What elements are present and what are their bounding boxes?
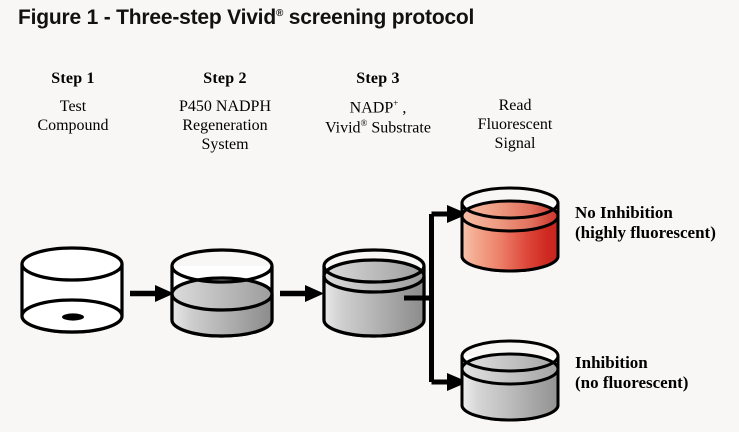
inhibition-label-line-2: (no fluorescent) — [575, 373, 688, 393]
figure-canvas: Figure 1 - Three-step Vivid® screening p… — [0, 0, 739, 432]
figure-title-prefix: Figure 1 - Three-step Vivid — [18, 6, 276, 29]
arrow-step2-to-step3 — [280, 282, 324, 306]
step-3-heading: Step 3 — [303, 70, 453, 89]
fluorescent-vial — [458, 190, 562, 282]
step-2-heading: Step 2 — [155, 70, 295, 89]
read-stage-line-3: Signal — [450, 135, 580, 154]
step-3-text-block: Step 3 NADP+ , Vivid® Substrate — [303, 70, 453, 138]
inhibition-label: Inhibition (no fluorescent) — [575, 353, 688, 394]
non-fluorescent-vial — [458, 343, 562, 427]
step-2-caption-line-3: System — [155, 136, 295, 155]
inhibition-label-line-1: Inhibition — [575, 353, 688, 373]
no-inhibition-label-line-1: No Inhibition — [575, 203, 716, 223]
step-3-nadp-label: NADP — [350, 99, 394, 116]
step-2-caption-line-2: Regeneration — [155, 117, 295, 136]
step-1-caption-line-1: Test — [8, 98, 138, 117]
step-3-substrate-label: Substrate — [367, 119, 431, 136]
step-1-heading: Step 1 — [8, 70, 138, 89]
compound-spot-icon — [62, 313, 84, 320]
step-3-nadp-tail: , — [398, 99, 406, 116]
read-stage-text-block: Read Fluorescent Signal — [450, 97, 580, 154]
step-3-caption-line-2: Vivid® Substrate — [303, 118, 453, 138]
step-1-caption: Test Compound — [8, 98, 138, 136]
read-stage-line-1: Read — [450, 97, 580, 116]
no-inhibition-label-line-2: (highly fluorescent) — [575, 223, 716, 243]
no-inhibition-label: No Inhibition (highly fluorescent) — [575, 203, 716, 244]
step-2-caption: P450 NADPH Regeneration System — [155, 98, 295, 155]
step-2-text-block: Step 2 P450 NADPH Regeneration System — [155, 70, 295, 155]
test-compound-vial — [18, 250, 126, 342]
step-1-caption-line-2: Compound — [8, 117, 138, 136]
figure-title: Figure 1 - Three-step Vivid® screening p… — [18, 6, 718, 30]
step-3-caption: NADP+ , Vivid® Substrate — [303, 98, 453, 138]
read-stage-line-2: Fluorescent — [450, 116, 580, 135]
figure-title-suffix: screening protocol — [283, 6, 474, 29]
step-2-caption-line-1: P450 NADPH — [155, 98, 295, 117]
step-3-vivid-label: Vivid — [325, 119, 360, 136]
step-1-text-block: Step 1 Test Compound — [8, 70, 138, 136]
step-3-caption-line-1: NADP+ , — [303, 98, 453, 118]
p450-nadph-vial — [168, 252, 276, 346]
